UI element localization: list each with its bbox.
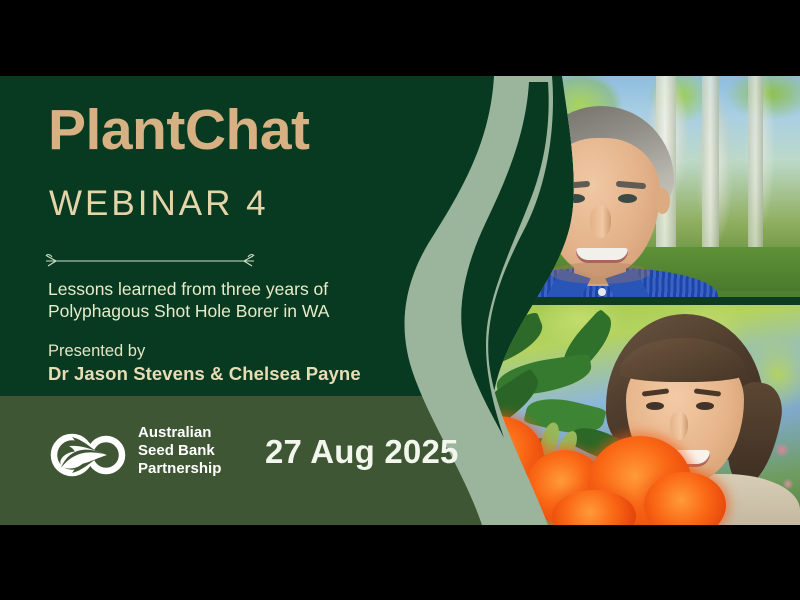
presenter-eye	[646, 402, 664, 410]
presenter-names: Dr Jason Stevens & Chelsea Payne	[48, 363, 361, 385]
webinar-date: 27 Aug 2025	[265, 433, 459, 471]
sprig-divider-ornament	[40, 253, 260, 269]
webinar-promo-slide: PlantChat WEBINAR 4 Lessons learned from…	[0, 76, 800, 525]
logo-line-3: Partnership	[138, 460, 221, 478]
topic-line-2: Polyphagous Shot Hole Borer in WA	[48, 300, 448, 322]
page-title: PlantChat	[48, 102, 310, 159]
slide-canvas: PlantChat WEBINAR 4 Lessons learned from…	[0, 0, 800, 600]
webinar-subtitle: WEBINAR 4	[49, 186, 269, 221]
infinity-seed-logo-icon	[47, 424, 131, 486]
logo-line-1: Australian	[138, 424, 221, 442]
logo-line-2: Seed Bank	[138, 442, 221, 460]
shirt-button	[598, 288, 606, 296]
logo-wordmark: Australian Seed Bank Partnership	[138, 424, 221, 478]
letterbox-bar-bottom	[0, 525, 800, 600]
presented-by-label: Presented by	[48, 342, 145, 361]
presenter-eye	[618, 194, 637, 203]
topic-line-1: Lessons learned from three years of	[48, 278, 448, 300]
tree-trunk	[748, 76, 763, 276]
presenter-eye	[696, 402, 714, 410]
webinar-topic: Lessons learned from three years of Poly…	[48, 278, 448, 323]
presenter-nose	[670, 412, 688, 440]
presenter-ear	[655, 188, 670, 214]
letterbox-bar-top	[0, 0, 800, 76]
slide-footer: Australian Seed Bank Partnership 27 Aug …	[0, 396, 470, 525]
